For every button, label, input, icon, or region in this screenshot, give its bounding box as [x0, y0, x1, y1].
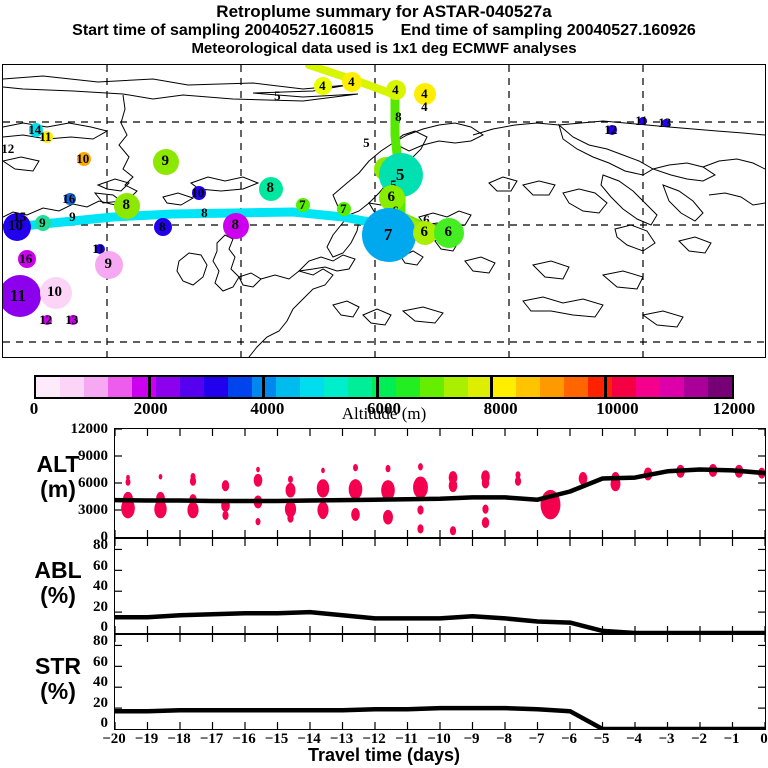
- alt-scatter-dot: [481, 470, 490, 483]
- map-marker-label: 8: [159, 220, 166, 233]
- alt-scatter-dot: [159, 474, 163, 480]
- y-tick-label: 20: [52, 696, 108, 711]
- colorbar-swatch-20: [516, 377, 540, 397]
- map-marker-label: 15: [13, 210, 26, 223]
- alt-scatter-dot: [418, 463, 423, 470]
- alt-scatter-dot: [450, 526, 456, 535]
- colorbar-swatch-13: [348, 377, 372, 397]
- alt-plot: [115, 429, 765, 537]
- y-tick-label: 9000: [52, 449, 108, 464]
- alt-scatter-dot: [191, 473, 196, 480]
- colorbar-swatch-23: [588, 377, 612, 397]
- map-marker-label: 9: [105, 257, 113, 272]
- map-marker-label: 12: [2, 142, 14, 155]
- alt-scatter-dot: [317, 502, 328, 519]
- y-tick-label: 80: [52, 538, 108, 553]
- alt-panel[interactable]: [114, 428, 766, 538]
- y-tick-label: 20: [52, 600, 108, 615]
- map-marker-label: 7: [384, 226, 393, 243]
- colorbar-swatch-27: [684, 377, 708, 397]
- alt-scatter-dot: [254, 474, 263, 487]
- colorbar-swatch-19: [492, 377, 516, 397]
- alt-scatter-dot: [417, 505, 423, 514]
- alt-scatter-dot: [449, 471, 458, 484]
- colorbar-swatch-6: [180, 377, 204, 397]
- alt-mean-line: [115, 470, 765, 502]
- alt-scatter-dot: [317, 479, 329, 497]
- map-marker-label: 12: [39, 313, 52, 326]
- map-marker-label: 7: [340, 202, 347, 215]
- y-tick-label: 3000: [52, 503, 108, 518]
- alt-scatter-dot: [383, 510, 393, 525]
- page-title: Retroplume summary for ASTAR-040527a: [0, 0, 768, 21]
- retroplume-map[interactable]: 1214111098161087754444485555667766691015…: [2, 64, 766, 358]
- alt-scatter-dot: [351, 508, 360, 521]
- x-axis-title: Travel time (days): [0, 745, 768, 766]
- colorbar-swatch-0: [36, 377, 60, 397]
- colorbar-swatch-11: [300, 377, 324, 397]
- colorbar-swatch-26: [660, 377, 684, 397]
- map-marker-label: 8: [201, 206, 208, 219]
- abl-plot: [115, 539, 765, 633]
- alt-scatter-dot: [321, 468, 325, 474]
- map-marker-label: 10: [76, 152, 89, 165]
- colorbar-swatch-25: [636, 377, 660, 397]
- start-time-label: Start time of sampling 20040527.160815: [72, 22, 374, 39]
- colorbar-swatch-17: [444, 377, 468, 397]
- page-header: Retroplume summary for ASTAR-040527a Sta…: [0, 0, 768, 58]
- sampling-times: Start time of sampling 20040527.160815 E…: [0, 21, 768, 40]
- y-tick-label: 60: [52, 559, 108, 574]
- colorbar-swatch-15: [396, 377, 420, 397]
- abl-panel[interactable]: [114, 538, 766, 634]
- map-marker-label: 5: [396, 166, 405, 183]
- colorbar-swatch-16: [420, 377, 444, 397]
- colorbar-swatch-21: [540, 377, 564, 397]
- map-marker-label: 16: [19, 252, 32, 265]
- alt-tick-marks: [115, 429, 765, 537]
- alt-scatter-dot: [349, 479, 363, 499]
- map-marker-label: 4: [348, 75, 355, 88]
- alt-scatter-dot: [126, 475, 130, 481]
- y-tick-label: 0: [52, 716, 108, 731]
- map-marker-label: 13: [65, 313, 78, 326]
- colorbar-swatch-24: [612, 377, 636, 397]
- colorbar-swatch-28: [708, 377, 732, 397]
- map-marker-label: 5: [274, 89, 281, 102]
- alt-scatter-dot: [386, 465, 391, 472]
- y-tick-label: 40: [52, 675, 108, 690]
- colorbar-swatch-12: [324, 377, 348, 397]
- colorbar-separator: [148, 375, 151, 399]
- colorbar-swatch-8: [228, 377, 252, 397]
- map-marker-label: 8: [232, 218, 240, 233]
- map-marker-label: 11: [39, 130, 51, 143]
- map-marker-label: 8: [123, 198, 131, 213]
- met-data-label: Meteorological data used is 1x1 deg ECMW…: [0, 40, 768, 58]
- map-marker-label: 5: [363, 136, 370, 149]
- colorbar-swatch-1: [60, 377, 84, 397]
- y-tick-label: 60: [52, 655, 108, 670]
- alt-scatter-dot: [222, 511, 228, 520]
- y-tick-label: 40: [52, 579, 108, 594]
- y-tick-label: 12000: [52, 422, 108, 437]
- colorbar-swatch-3: [108, 377, 132, 397]
- map-marker-label: 6: [421, 225, 429, 240]
- alt-scatter-dot: [353, 464, 358, 471]
- map-marker-label: 11: [635, 114, 647, 127]
- alt-scatter-dot: [413, 476, 428, 498]
- colorbar-swatch-2: [84, 377, 108, 397]
- map-marker-label: 13: [658, 116, 671, 129]
- alt-scatter-dot: [417, 524, 423, 533]
- str-tick-marks: [115, 635, 765, 729]
- alt-scatter-dot: [256, 518, 261, 525]
- alt-scatter-dot: [256, 467, 260, 473]
- map-marker-label: 4: [319, 79, 326, 92]
- colorbar-separator: [376, 375, 379, 399]
- colorbar-title: Altitude (m): [0, 404, 768, 424]
- colorbar-swatch-7: [204, 377, 228, 397]
- alt-scatter-dot: [286, 483, 296, 498]
- map-marker-label: 4: [392, 83, 399, 96]
- map-marker-label: 10: [47, 285, 62, 300]
- colorbar-swatch-22: [564, 377, 588, 397]
- alt-scatter-dot: [285, 501, 296, 518]
- y-tick-label: 80: [52, 634, 108, 649]
- map-marker-label: 9: [162, 154, 170, 169]
- map-marker-label: 8: [267, 181, 275, 196]
- colorbar-swatch-4: [132, 377, 156, 397]
- colorbar-swatch-10: [276, 377, 300, 397]
- colorbar-separator: [604, 375, 607, 399]
- colorbar-swatch-5: [156, 377, 180, 397]
- colorbar-separator: [262, 375, 265, 399]
- map-marker-label: 8: [395, 110, 402, 123]
- colorbar-separator: [490, 375, 493, 399]
- alt-scatter-dot: [222, 480, 229, 491]
- alt-scatter-dot: [482, 517, 489, 528]
- map-marker-label: 7: [299, 198, 306, 211]
- str-panel[interactable]: [114, 634, 766, 730]
- map-marker-label: 12: [604, 123, 617, 136]
- map-marker-label: 4: [421, 100, 428, 113]
- map-marker-label: 11: [10, 287, 26, 304]
- end-time-label: End time of sampling 20040527.160926: [401, 22, 696, 39]
- map-marker-label: 10: [191, 186, 204, 199]
- colorbar-swatch-18: [468, 377, 492, 397]
- altitude-colorbar: [34, 375, 734, 399]
- y-tick-label: 6000: [52, 476, 108, 491]
- str-plot: [115, 635, 765, 729]
- alt-scatter-dot: [516, 471, 521, 478]
- map-marker-label: 6: [445, 225, 453, 240]
- map-marker-label: 9: [39, 216, 46, 229]
- alt-scatter-dot: [288, 476, 293, 483]
- map-marker-label: 9: [69, 210, 76, 223]
- map-marker-label: 16: [62, 192, 75, 205]
- alt-scatter-dot: [482, 505, 488, 514]
